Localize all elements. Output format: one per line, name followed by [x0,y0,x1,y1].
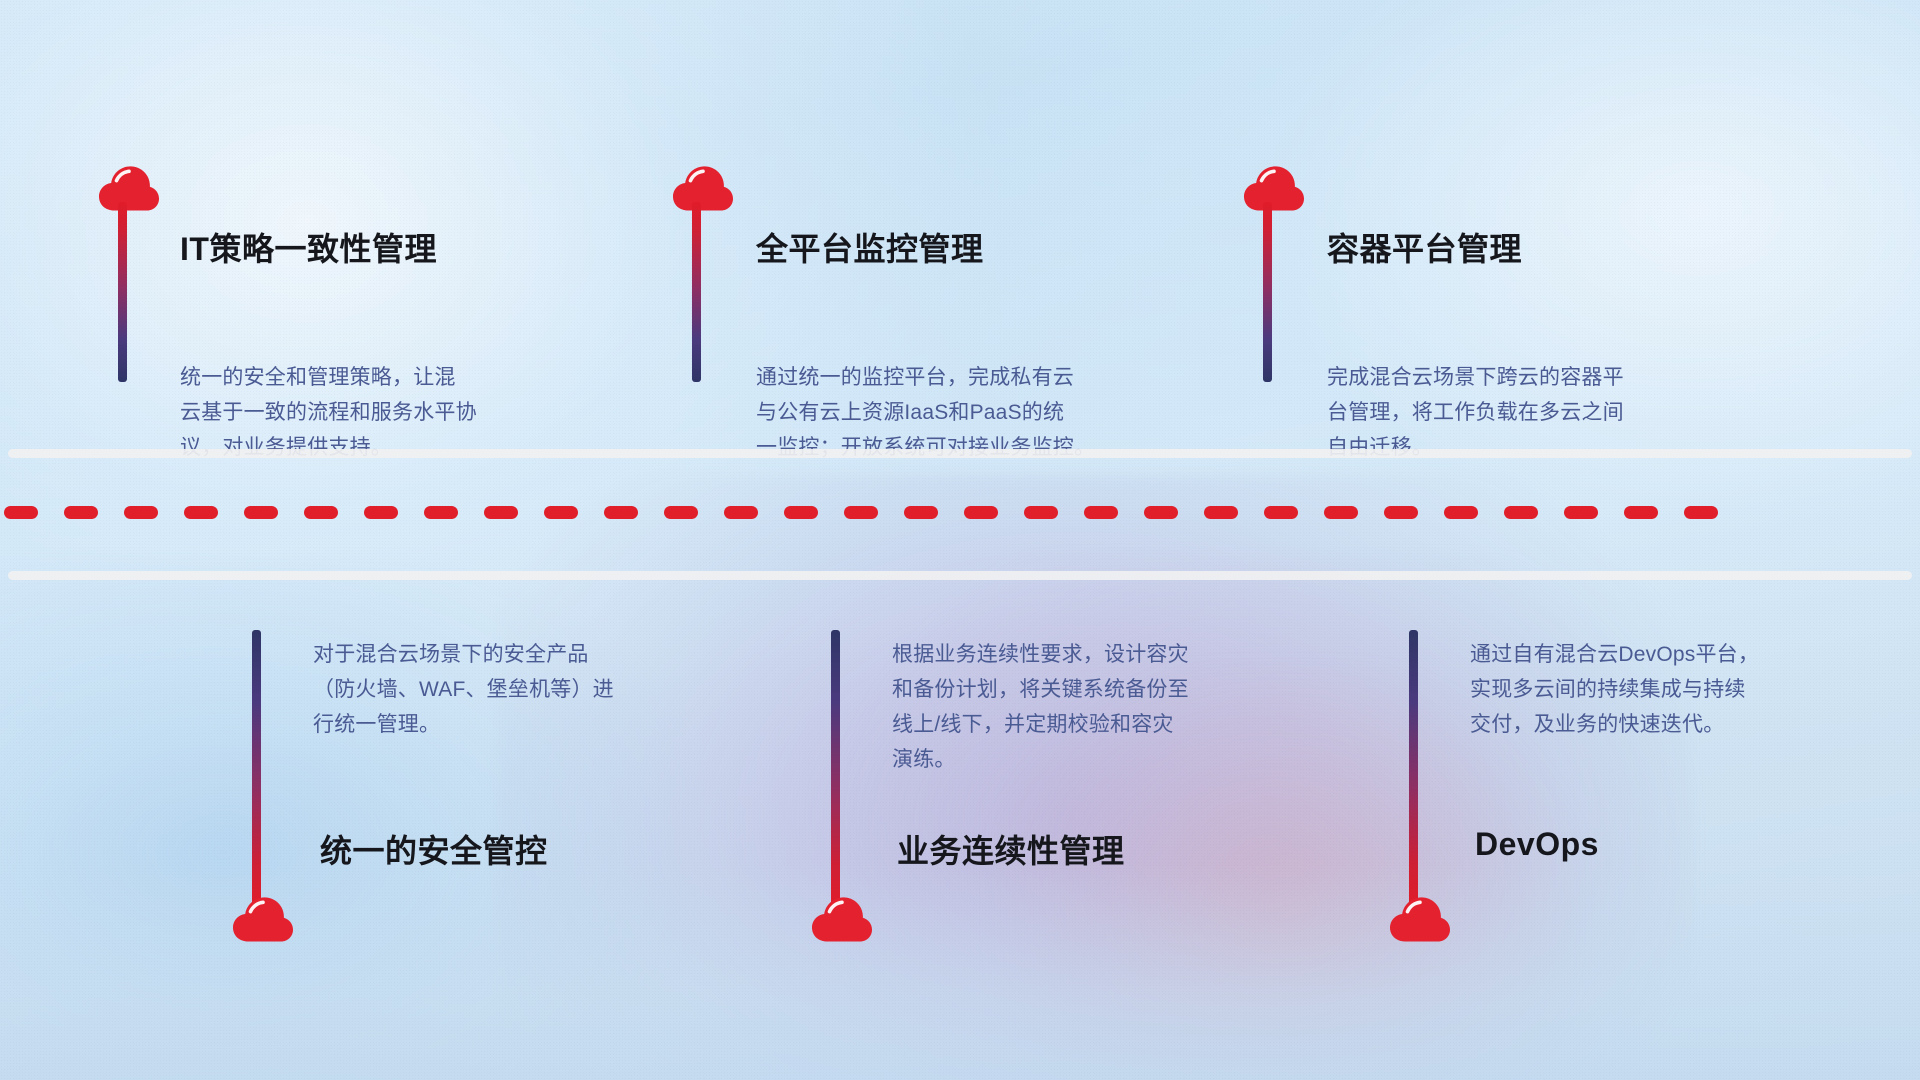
divider-dash [1504,506,1538,519]
cloud-icon [98,164,160,211]
divider-dash [604,506,638,519]
divider-dash [784,506,818,519]
divider-dash [724,506,758,519]
card-title: 全平台监控管理 [756,224,984,270]
card-title: 统一的安全管控 [320,826,548,872]
desc-line: 完成混合云场景下跨云的容器平 [1327,360,1747,395]
card-title: IT策略一致性管理 [180,224,437,270]
desc-line: 台管理，将工作负载在多云之间 [1327,395,1747,430]
desc-line: 统一的安全和管理策略，让混 [180,360,600,395]
divider-dash [484,506,518,519]
connector-stem [831,630,840,910]
desc-line: 交付，及业务的快速迭代。 [1470,707,1890,742]
desc-line: 和备份计划，将关键系统备份至 [892,672,1312,707]
divider-dash [1384,506,1418,519]
divider-dash [304,506,338,519]
divider-dash [544,506,578,519]
divider-dash [4,506,38,519]
divider-dash [244,506,278,519]
desc-line: 对于混合云场景下的安全产品 [313,637,733,672]
divider-dash [64,506,98,519]
cloud-icon [232,895,294,942]
cloud-icon [1389,895,1451,942]
divider-dash [1324,506,1358,519]
divider-dash [1024,506,1058,519]
desc-line: 通过自有混合云DevOps平台， [1470,637,1890,672]
divider-dash [1204,506,1238,519]
divider-rule-top [8,449,1912,458]
card-description: 根据业务连续性要求，设计容灾 和备份计划，将关键系统备份至 线上/线下，并定期校… [892,637,1312,777]
desc-line: 线上/线下，并定期校验和容灾 [892,707,1312,742]
connector-stem [252,630,261,910]
desc-line: 与公有云上资源IaaS和PaaS的统 [756,395,1176,430]
divider-dash [424,506,458,519]
card-title: 容器平台管理 [1327,224,1522,270]
divider-dashed-line [0,506,1920,519]
cloud-icon [672,164,734,211]
card-description: 通过自有混合云DevOps平台， 实现多云间的持续集成与持续 交付，及业务的快速… [1470,637,1890,742]
divider-dash [1684,506,1718,519]
desc-line: 云基于一致的流程和服务水平协 [180,395,600,430]
divider-dash [844,506,878,519]
connector-stem [1263,202,1272,382]
desc-line: 实现多云间的持续集成与持续 [1470,672,1890,707]
divider-dash [964,506,998,519]
divider [0,449,1920,619]
card-title: 业务连续性管理 [897,826,1125,872]
divider-dash [184,506,218,519]
card-description: 对于混合云场景下的安全产品 （防火墙、WAF、堡垒机等）进 行统一管理。 [313,637,733,742]
divider-dash [1564,506,1598,519]
desc-line: 行统一管理。 [313,707,733,742]
card-title: DevOps [1475,826,1599,863]
desc-line: 演练。 [892,742,1312,777]
desc-line: 根据业务连续性要求，设计容灾 [892,637,1312,672]
desc-line: （防火墙、WAF、堡垒机等）进 [313,672,733,707]
divider-dash [124,506,158,519]
cloud-icon [1243,164,1305,211]
divider-dash [904,506,938,519]
divider-dash [1144,506,1178,519]
divider-dash [1264,506,1298,519]
divider-dash [1444,506,1478,519]
connector-stem [1409,630,1418,910]
cloud-icon [811,895,873,942]
connector-stem [118,202,127,382]
divider-dash [1624,506,1658,519]
connector-stem [692,202,701,382]
divider-dash [1084,506,1118,519]
divider-dash [664,506,698,519]
divider-rule-bottom [8,571,1912,580]
divider-dash [364,506,398,519]
desc-line: 通过统一的监控平台，完成私有云 [756,360,1176,395]
